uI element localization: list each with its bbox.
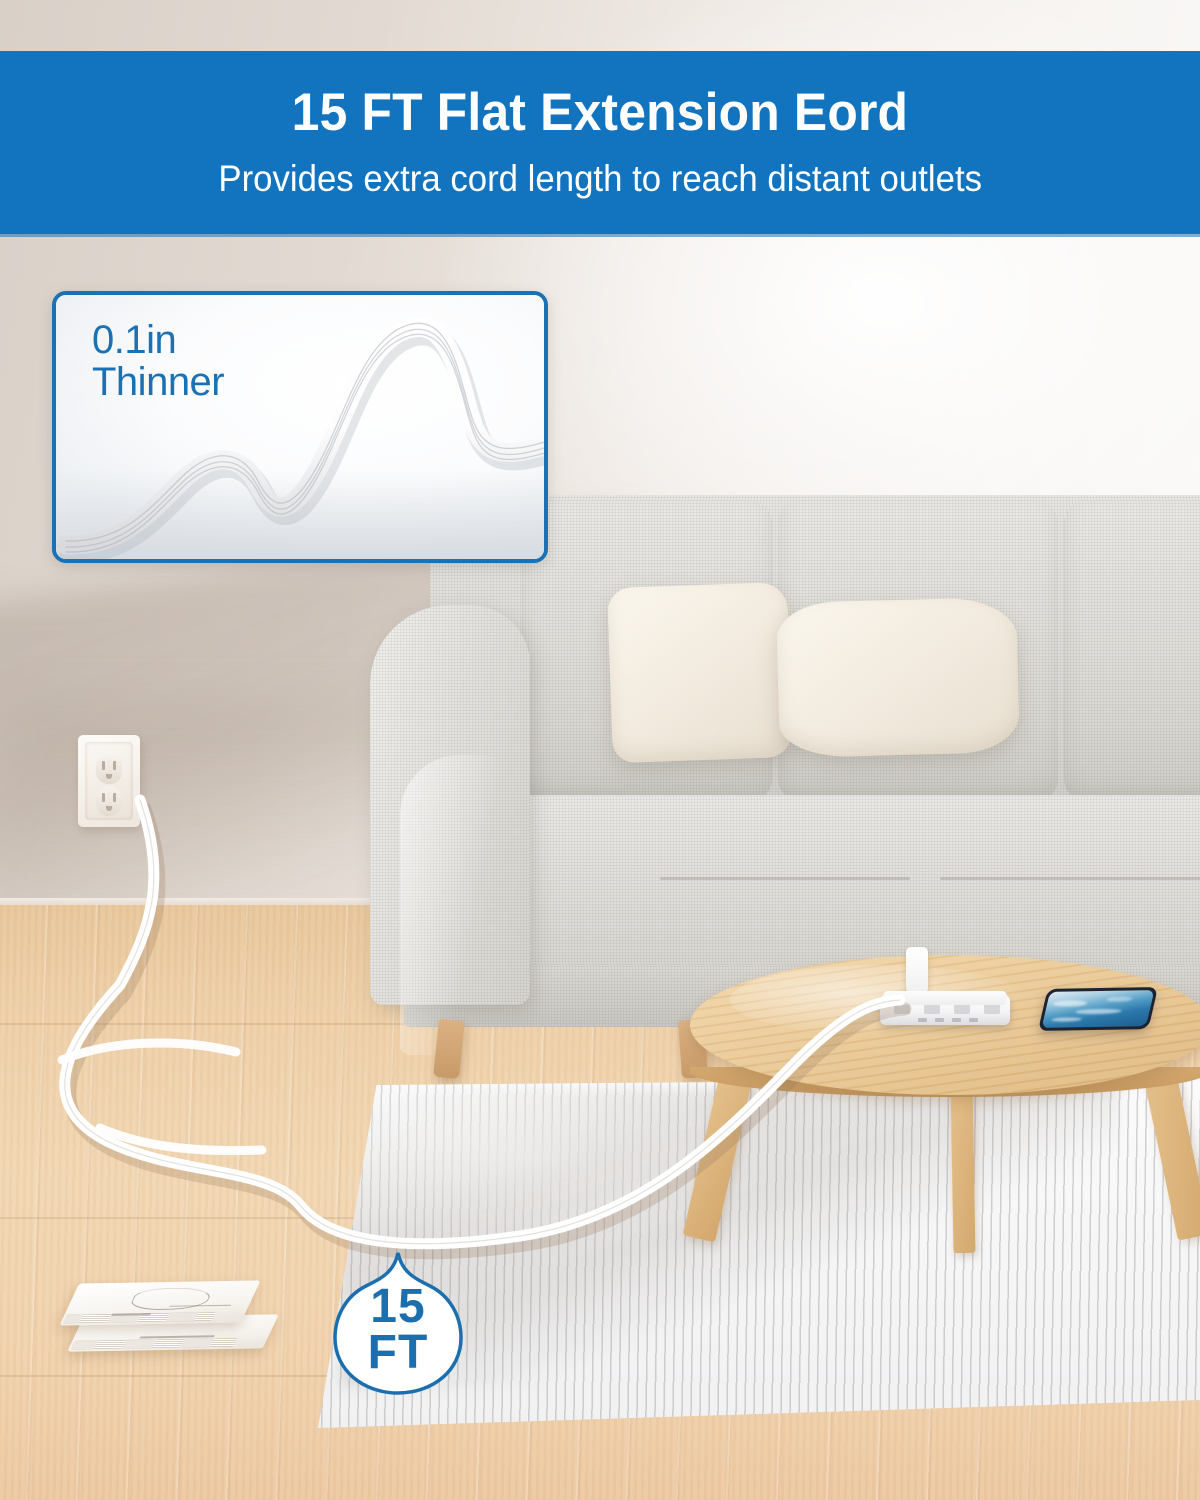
outlet-faceplate: [85, 742, 133, 820]
thinner-label-line1: 0.1in: [92, 318, 176, 362]
product-marketing-image: 15 FT Flat Extension Eord Provides extra…: [0, 0, 1200, 1500]
thinner-label-line2: Thinner: [92, 361, 224, 403]
table-leg: [951, 1083, 976, 1253]
page-title: 15 FT Flat Extension Eord: [292, 85, 908, 141]
header-banner: 15 FT Flat Extension Eord Provides extra…: [0, 51, 1200, 234]
outlet-socket-bottom: [96, 786, 122, 816]
length-badge: 15 FT: [330, 1248, 466, 1398]
table-leg: [1143, 1068, 1200, 1241]
wall-outlet[interactable]: [78, 735, 140, 827]
banner-underline: [0, 234, 1200, 237]
sofa-arm-fold: [400, 755, 520, 1055]
smartphone[interactable]: [1038, 987, 1158, 1031]
phone-screen: [1042, 990, 1155, 1028]
pillow-lumbar: [776, 597, 1020, 758]
page-subtitle: Provides extra cord length to reach dist…: [218, 159, 982, 200]
sofa-arm: [370, 605, 530, 1005]
pillow-square: [607, 582, 793, 763]
book-upper: [59, 1280, 260, 1325]
table-leg: [683, 1069, 753, 1242]
thinner-label: 0.1in Thinner: [92, 319, 224, 404]
power-strip-top: [883, 991, 1007, 1005]
badge-unit: FT: [368, 1330, 429, 1376]
thinner-feature-card: 0.1in Thinner: [52, 291, 548, 563]
badge-value: 15: [370, 1284, 425, 1330]
badge-text: 15 FT: [330, 1248, 466, 1398]
outlet-socket-top: [96, 754, 122, 784]
power-strip[interactable]: [880, 985, 1010, 1031]
wall-charger[interactable]: [906, 947, 928, 993]
book-stack: [70, 1276, 270, 1371]
sofa-back-cushion: [1064, 501, 1200, 801]
